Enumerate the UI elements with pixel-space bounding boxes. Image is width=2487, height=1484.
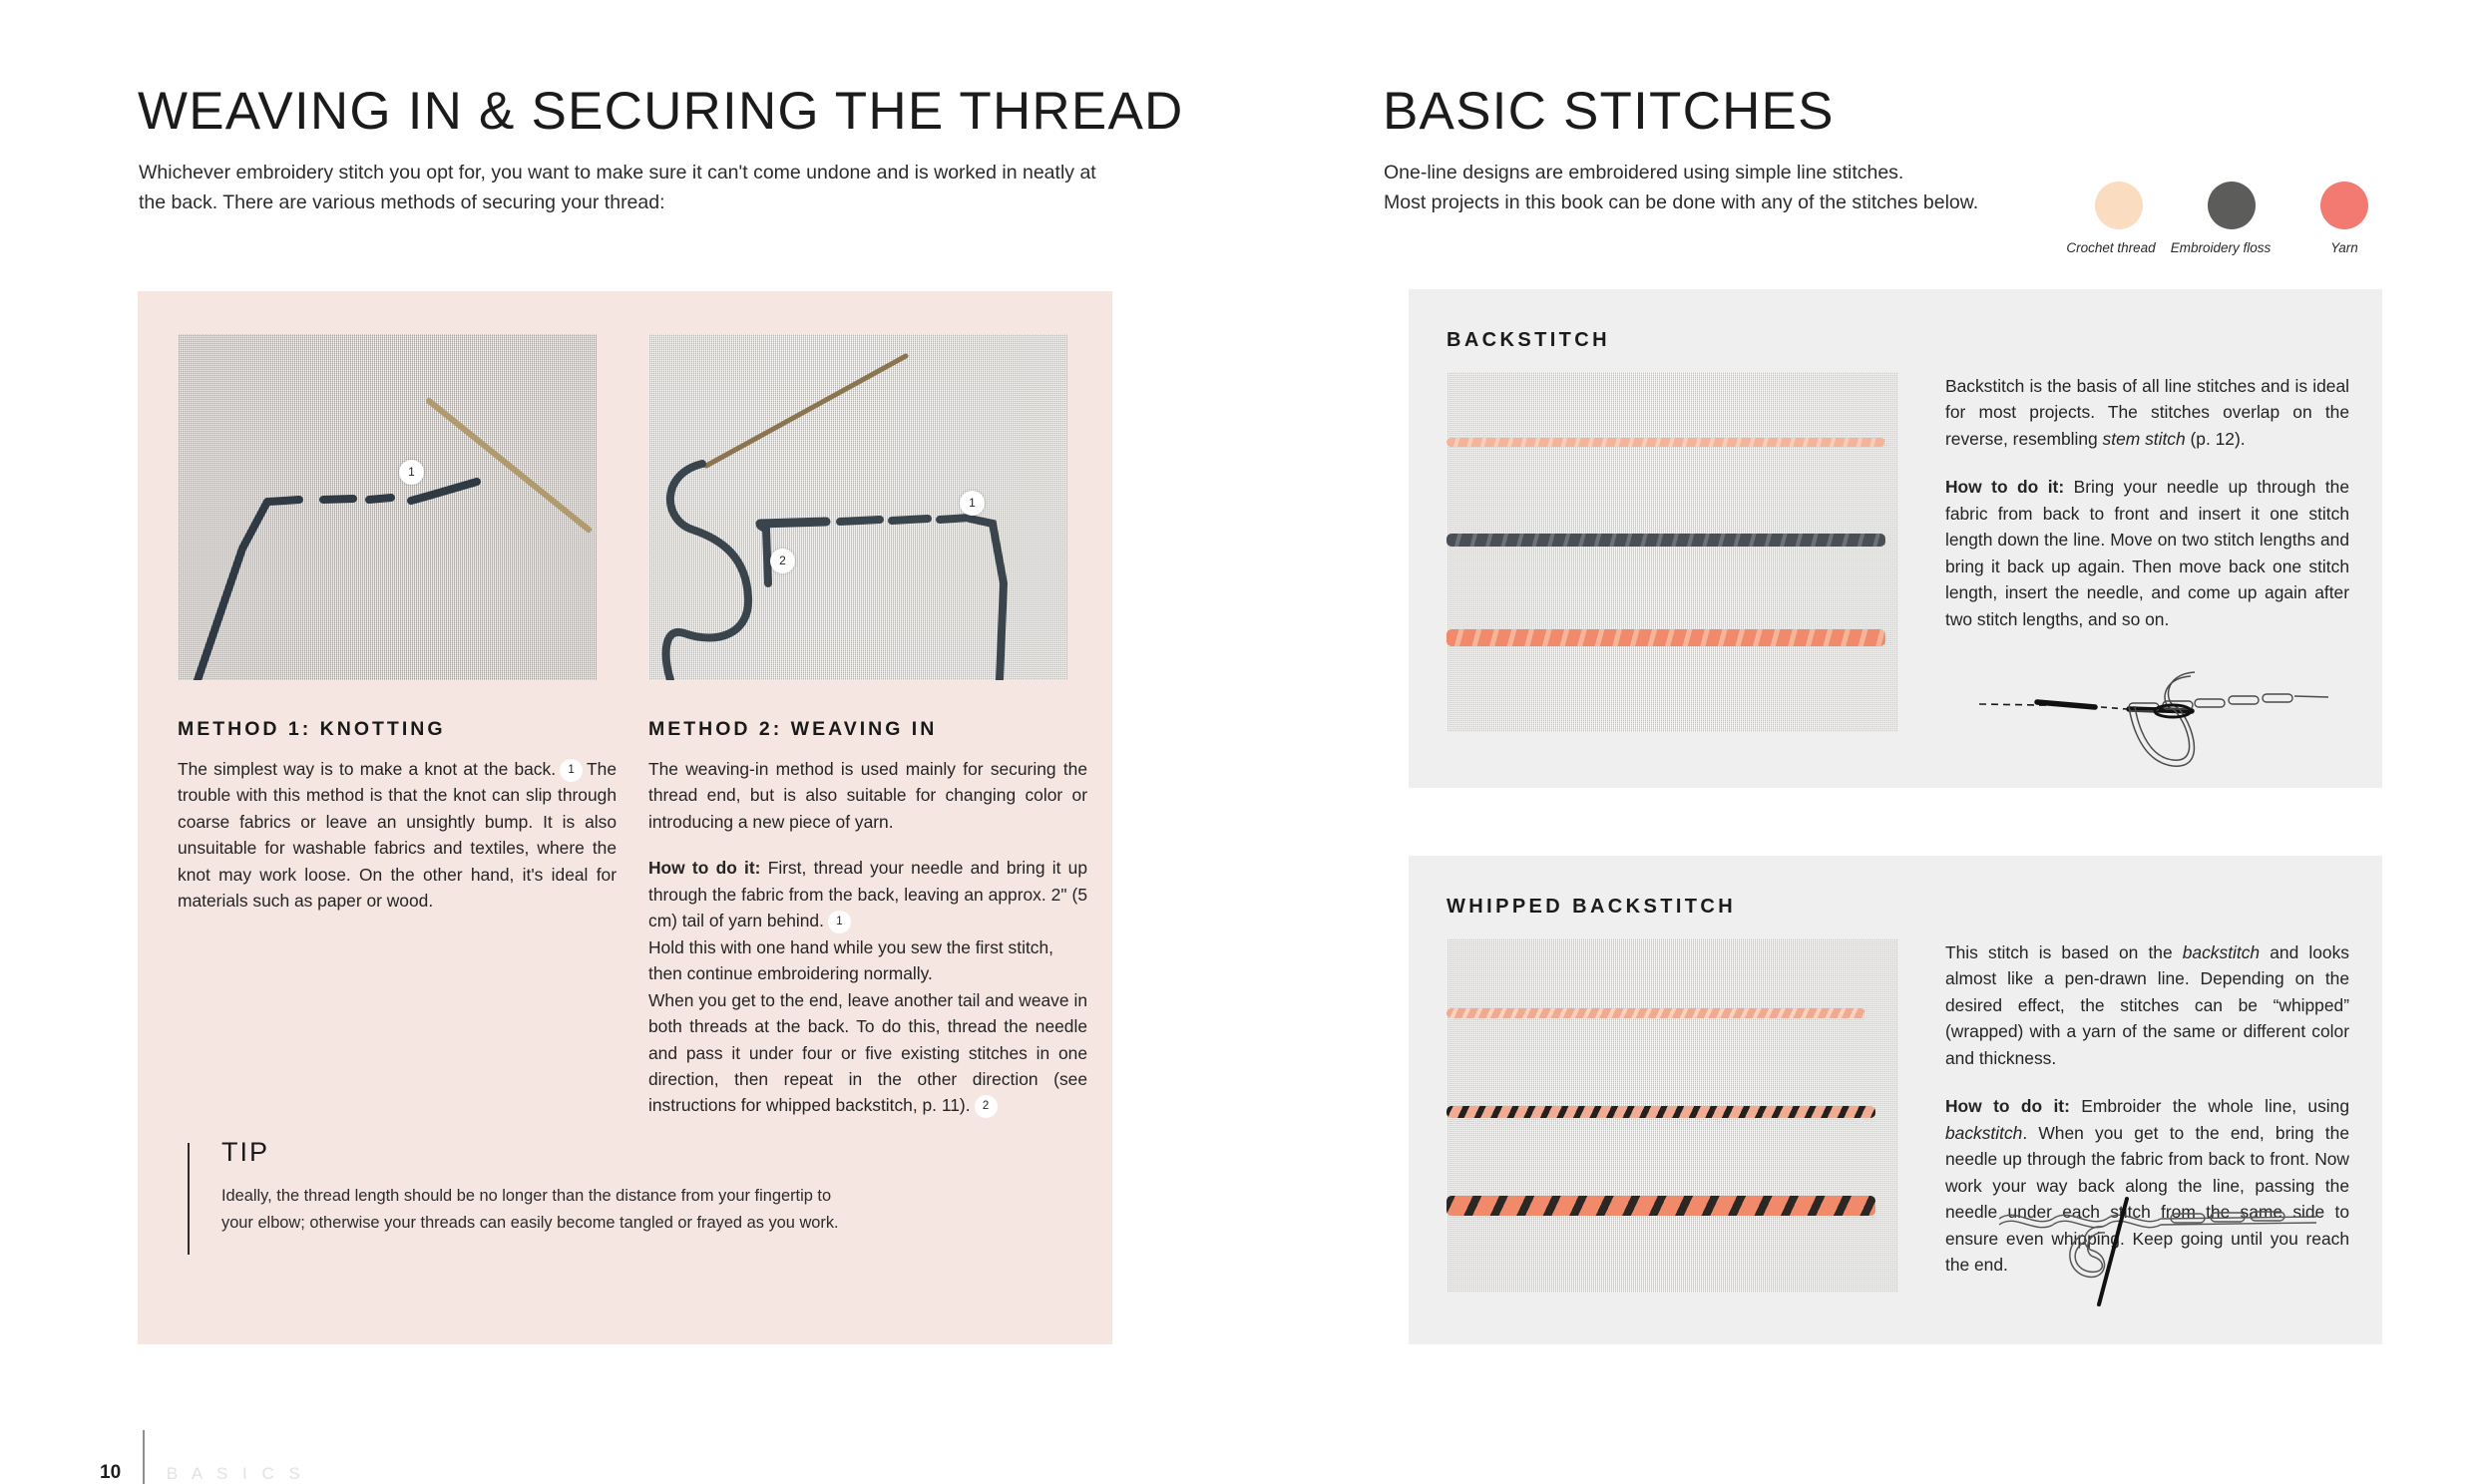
- footer-section-left: B A S I C S: [167, 1464, 305, 1484]
- stitch-line-embroidery-floss: [1447, 1106, 1875, 1118]
- swatch-dot-yarn: [2320, 182, 2368, 229]
- stitch-line-yarn: [1447, 1196, 1875, 1216]
- method-1-body: The simplest way is to make a knot at th…: [178, 756, 617, 915]
- backstitch-howto-label: How to do it:: [1945, 477, 2064, 497]
- legend-item-crochet-thread: Crochet thread: [2079, 182, 2159, 255]
- thread-illustration: [648, 334, 1067, 680]
- book-spread: WEAVING IN & SECURING THE THREAD Whichev…: [0, 0, 2487, 1484]
- whipped-para-1-a: This stitch is based on the: [1945, 942, 2183, 962]
- weaving-in-photo: 1 2: [648, 334, 1067, 680]
- right-page: BASIC STITCHES One-line designs are embr…: [1243, 0, 2487, 1484]
- tip-text: Ideally, the thread length should be no …: [221, 1183, 840, 1236]
- step-badge-1: 1: [828, 911, 851, 933]
- footer-left: 10 B A S I C S: [0, 1404, 1243, 1484]
- linen-texture: [1447, 372, 1897, 732]
- step-badge-1: 1: [560, 759, 583, 782]
- thread-illustration: [178, 334, 597, 680]
- method-2-heading: METHOD 2: WEAVING IN: [648, 718, 937, 741]
- whipped-howto-a: Embroider the whole line, using: [2081, 1096, 2349, 1116]
- backstitch-para-1-italic: stem stitch: [2103, 429, 2186, 449]
- right-page-intro: One-line designs are embroidered using s…: [1384, 159, 2102, 217]
- page-title-left: WEAVING IN & SECURING THE THREAD: [138, 84, 1183, 140]
- backstitch-diagram: [1977, 666, 2336, 776]
- step-badge-1: 1: [399, 460, 424, 485]
- backstitch-para-1: Backstitch is the basis of all line stit…: [1945, 373, 2349, 452]
- method-2-para-2: Hold this with one hand while you sew th…: [648, 934, 1087, 987]
- left-page: WEAVING IN & SECURING THE THREAD Whichev…: [0, 0, 1243, 1484]
- whipped-howto-italic: backstitch: [1945, 1123, 2022, 1143]
- step-badge-1: 1: [960, 491, 985, 516]
- swatch-dot-crochet-thread: [2095, 182, 2143, 229]
- whipped-backstitch-heading: WHIPPED BACKSTITCH: [1447, 896, 1736, 919]
- method-2-para-3-text: When you get to the end, leave another t…: [648, 990, 1087, 1116]
- whipped-backstitch-diagram: [1995, 1193, 2334, 1312]
- method-2-howto-label: How to do it:: [648, 858, 760, 878]
- whipped-backstitch-card: WHIPPED BACKSTITCH This stitch is based …: [1409, 856, 2382, 1344]
- legend-item-embroidery-floss: Embroidery floss: [2192, 182, 2272, 255]
- legend-label-crochet-thread: Crochet thread: [2063, 240, 2159, 255]
- stitch-line-yarn: [1447, 629, 1885, 646]
- tip-rule: [188, 1143, 190, 1255]
- right-page-intro-line-2: Most projects in this book can be done w…: [1384, 188, 2102, 218]
- method-2-para-1: The weaving-in method is used mainly for…: [648, 756, 1087, 835]
- legend-label-embroidery-floss: Embroidery floss: [2170, 240, 2272, 255]
- right-page-intro-line-1: One-line designs are embroidered using s…: [1384, 159, 2102, 188]
- method-2-howto: How to do it: First, thread your needle …: [648, 855, 1087, 933]
- whipped-howto-label: How to do it:: [1945, 1096, 2070, 1116]
- backstitch-card: BACKSTITCH Backstitch is the basis of al…: [1409, 289, 2382, 788]
- footer-divider: [143, 1430, 145, 1484]
- whipped-para-1-italic: backstitch: [2183, 942, 2260, 962]
- page-number-left: 10: [100, 1462, 121, 1484]
- step-badge-2: 2: [975, 1095, 998, 1118]
- left-page-intro: Whichever embroidery stitch you opt for,…: [139, 159, 1116, 217]
- backstitch-text: Backstitch is the basis of all line stit…: [1945, 373, 2349, 632]
- method-2-body: The weaving-in method is used mainly for…: [648, 756, 1087, 1119]
- backstitch-howto-text: Bring your needle up through the fabric …: [1945, 477, 2349, 628]
- legend-item-yarn: Yarn: [2304, 182, 2384, 255]
- thread-legend: Crochet thread Embroidery floss Yarn: [2079, 182, 2384, 255]
- stitch-line-crochet-thread: [1447, 438, 1885, 447]
- tip-title: TIP: [221, 1137, 269, 1168]
- method-2-para-3: When you get to the end, leave another t…: [648, 987, 1087, 1119]
- method-1-heading: METHOD 1: KNOTTING: [178, 718, 446, 741]
- whipped-para-1: This stitch is based on the backstitch a…: [1945, 939, 2349, 1071]
- stitch-line-embroidery-floss: [1447, 534, 1885, 547]
- page-title-right: BASIC STITCHES: [1383, 84, 1835, 140]
- swatch-dot-embroidery-floss: [2208, 182, 2256, 229]
- backstitch-para-1-b: (p. 12).: [2186, 429, 2246, 449]
- stitch-line-crochet-thread: [1447, 1008, 1865, 1018]
- backstitch-heading: BACKSTITCH: [1447, 329, 1610, 352]
- knotting-photo: 1: [178, 334, 597, 680]
- method-1-text-before: The simplest way is to make a knot at th…: [178, 759, 556, 779]
- method-1-text-after: The trouble with this method is that the…: [178, 759, 617, 911]
- step-badge-2: 2: [770, 549, 795, 573]
- whipped-backstitch-sample-photo: [1447, 938, 1897, 1293]
- backstitch-howto: How to do it: Bring your needle up throu…: [1945, 474, 2349, 632]
- backstitch-sample-photo: [1447, 372, 1897, 732]
- legend-label-yarn: Yarn: [2304, 240, 2384, 255]
